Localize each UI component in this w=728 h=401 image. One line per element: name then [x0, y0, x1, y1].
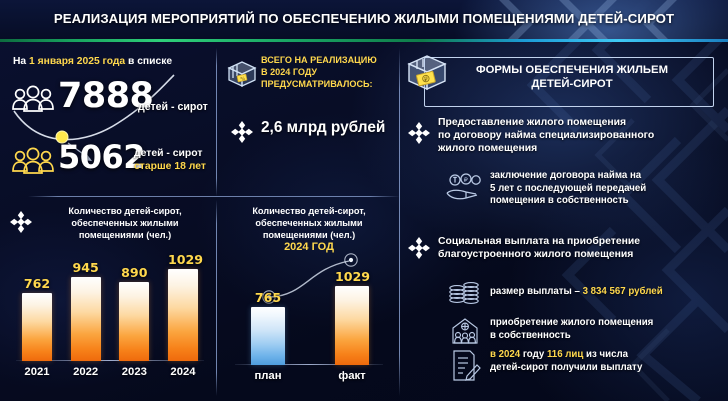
panel-forms-title: ФОРМЫ ОБЕСПЕЧЕНИЯ ЖИЛЬЕМ ДЕТЕЙ-СИРОТ	[436, 63, 708, 91]
panel-chart-years-caption: Количество детей-сирот, обеспеченных жил…	[36, 205, 214, 242]
bar-fill	[251, 307, 285, 365]
panel-chart-years: Количество детей-сирот, обеспеченных жил…	[0, 197, 216, 401]
bar-chart-years: 76220219452022890202310292024	[12, 253, 208, 383]
header-bar: РЕАЛИЗАЦИЯ МЕРОПРИЯТИЙ ПО ОБЕСПЕЧЕНИЮ ЖИ…	[0, 0, 728, 42]
people-group-icon	[10, 147, 56, 177]
house-with-people-icon	[448, 315, 482, 347]
bar-category-label: 2023	[119, 366, 149, 378]
document-with-pen-icon	[448, 348, 482, 384]
panel-budget-caption: ВСЕГО НА РЕАЛИЗАЦИЮ В 2024 ГОДУ ПРЕДУСМА…	[261, 54, 397, 91]
registry-over18-label: детей - сирот старше 18 лет	[134, 148, 206, 173]
chart-years-caption-l1: Количество детей-сирот,	[36, 205, 214, 217]
forms-item2-sub1: размер выплаты – 3 834 567 рублей	[490, 286, 728, 299]
forms-item1-head-l2: по договору найма специализированного	[438, 129, 726, 142]
forms-item2-sub2: приобретение жилого помещения в собствен…	[490, 317, 728, 342]
bar-column: 7622021	[22, 293, 52, 361]
chart-years-caption-l2: обеспеченных жилыми	[36, 217, 214, 229]
bar-value-label: 1029	[168, 252, 198, 267]
panel-budget-value: 2,6 млрд рублей	[261, 119, 385, 137]
panel-registry: На 1 января 2025 года в списке	[0, 43, 216, 196]
budget-caption-line2: В 2024 ГОДУ	[261, 66, 397, 78]
forms-item2-sub3-mid: году	[520, 349, 547, 360]
diamond-cluster-icon	[8, 209, 34, 235]
bar-category-label: план	[251, 370, 285, 382]
forms-item2-head-l1: Социальная выплата на приобретение	[438, 235, 726, 248]
people-group-icon	[10, 85, 56, 115]
forms-item1-sub1-l1: заключение договора найма на	[490, 170, 726, 183]
page-title: РЕАЛИЗАЦИЯ МЕРОПРИЯТИЙ ПО ОБЕСПЕЧЕНИЮ ЖИ…	[0, 0, 728, 36]
svg-text:₽: ₽	[464, 176, 468, 184]
forms-item2-sub3-l2: детей-сирот получили выплату	[490, 362, 728, 375]
bar-category-label: факт	[335, 370, 369, 382]
forms-item1-sub1: заключение договора найма на 5 лет с пос…	[490, 170, 726, 208]
box-with-money-icon: ₽	[404, 49, 450, 97]
forms-item1-head-l1: Предоставление жилого помещения	[438, 116, 726, 129]
bar-category-label: 2022	[71, 366, 101, 378]
forms-item1-sub1-l2: 5 лет с последующей передачей	[490, 183, 726, 196]
forms-item2-sub2-l1: приобретение жилого помещения	[490, 317, 728, 330]
registry-row-total: 7888 детей - сирот	[10, 79, 216, 123]
coin-stacks-icon	[446, 281, 482, 307]
bar-column: 10292024	[168, 269, 198, 361]
forms-item2-sub3-year: в 2024	[490, 349, 520, 360]
bar-column: 9452022	[71, 277, 101, 361]
bar-fill	[22, 293, 52, 361]
bar-fill	[335, 286, 369, 365]
diamond-cluster-icon	[406, 120, 432, 146]
forms-item1-sub1-l3: помещения в собственность	[490, 195, 726, 208]
panel-chart-2024: Количество детей-сирот, обеспеченных жил…	[217, 197, 399, 401]
bar-chart-plan-fact: 765план1029факт	[233, 275, 385, 387]
panel-registry-caption: На 1 января 2025 года в списке	[13, 56, 172, 67]
registry-total-label: детей - сирот	[138, 101, 208, 113]
bar-column: 765план	[251, 307, 285, 365]
forms-item2-sub3-count: 116 лиц	[547, 349, 583, 360]
forms-item1-head: Предоставление жилого помещения по догов…	[438, 116, 726, 156]
registry-over18-label-line1: детей - сирот	[134, 148, 206, 161]
caption-highlight: 1 января 2025 года	[29, 56, 125, 67]
panel-forms: ₽ ФОРМЫ ОБЕСПЕЧЕНИЯ ЖИЛЬЕМ ДЕТЕЙ-СИРОТ П…	[400, 43, 728, 401]
forms-item2-sub3: в 2024 году 116 лиц из числа детей-сирот…	[490, 349, 728, 374]
box-with-money-icon: %	[225, 56, 259, 90]
forms-item2-sub1-text: размер выплаты –	[490, 286, 583, 297]
panel-chart-2024-caption: Количество детей-сирот, обеспеченных жил…	[223, 205, 395, 242]
forms-item2-sub3-l1: в 2024 году 116 лиц из числа	[490, 349, 728, 362]
chart-2024-caption-l1: Количество детей-сирот,	[223, 205, 395, 217]
forms-title-line1: ФОРМЫ ОБЕСПЕЧЕНИЯ ЖИЛЬЕМ	[436, 63, 708, 77]
budget-caption-line3: ПРЕДУСМАТРИВАЛОСЬ:	[261, 78, 397, 90]
forms-title-line2: ДЕТЕЙ-СИРОТ	[436, 77, 708, 91]
chart-2024-caption-l3: помещениями (чел.)	[223, 229, 395, 241]
forms-item1-head-l3: жилого помещения	[438, 142, 726, 155]
registry-over18-label-line2: старше 18 лет	[134, 161, 206, 174]
registry-row-over18: 5062 детей - сирот старше 18 лет	[10, 141, 216, 185]
hand-with-coins-icon: ₽	[444, 172, 484, 204]
forms-item2-sub3-tail: из числа	[583, 349, 628, 360]
infographic-canvas: РЕАЛИЗАЦИЯ МЕРОПРИЯТИЙ ПО ОБЕСПЕЧЕНИЮ ЖИ…	[0, 0, 728, 401]
bar-category-label: 2024	[168, 366, 198, 378]
diamond-cluster-icon	[406, 235, 432, 261]
bar-value-label: 1029	[335, 269, 369, 284]
bar-fill	[71, 277, 101, 361]
bar-value-label: 945	[71, 260, 101, 275]
bar-column: 1029факт	[335, 286, 369, 365]
chart-years-caption-l3: помещениями (чел.)	[36, 229, 214, 241]
chart-2024-caption-l2: обеспеченных жилыми	[223, 217, 395, 229]
registry-over18-value: 5062	[58, 138, 145, 176]
panel-budget: % ВСЕГО НА РЕАЛИЗАЦИЮ В 2024 ГОДУ ПРЕДУС…	[217, 43, 399, 196]
forms-item2-head-l2: благоустроенного жилого помещения	[438, 248, 726, 261]
bar-category-label: 2021	[22, 366, 52, 378]
diamond-cluster-icon	[229, 119, 255, 145]
forms-item2-head: Социальная выплата на приобретение благо…	[438, 235, 726, 261]
bar-column: 8902023	[119, 282, 149, 361]
header-accent-rule	[0, 39, 728, 42]
forms-item2-sub1-amount: 3 834 567 рублей	[583, 286, 663, 297]
bar-fill	[168, 269, 198, 361]
budget-caption-line1: ВСЕГО НА РЕАЛИЗАЦИЮ	[261, 54, 397, 66]
bar-fill	[119, 282, 149, 361]
bar-value-label: 890	[119, 265, 149, 280]
caption-prefix: На	[13, 56, 29, 67]
bar-value-label: 765	[251, 290, 285, 305]
caption-suffix: в списке	[125, 56, 172, 67]
forms-item2-sub2-l2: в собственность	[490, 330, 728, 343]
bar-value-label: 762	[22, 276, 52, 291]
